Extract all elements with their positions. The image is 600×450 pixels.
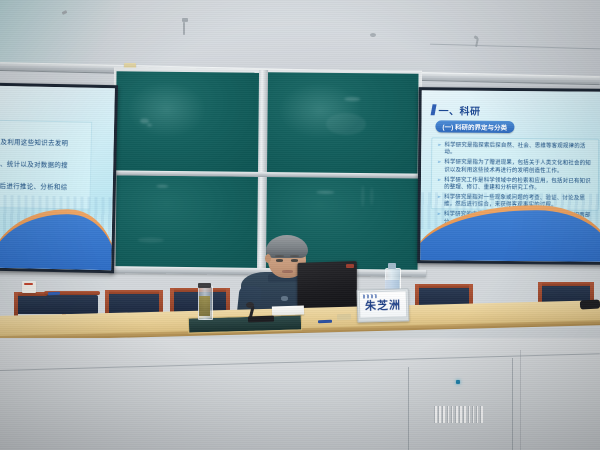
desk-panel-seam-vertical [520,350,521,450]
speaker-eye [291,259,298,262]
chair-backrest [46,295,98,314]
chalk-smudge [370,187,373,205]
chair-post [170,288,174,314]
desk-panel-seam-vertical [408,367,409,450]
dark-object-right [580,299,600,309]
thermos-cap [198,283,211,288]
lecture-hall-photo: 以及利用这些知识去发明 理、统计以及对数据的搜 然后进行推论、分析和综 一、科研… [0,0,600,450]
bullet-marker-icon: ➢ [437,160,441,175]
slide-bullet: ➢ 科学研究是指为了赠进现果，包括关于人类文化和社会的知识以及利用这些技术再进行… [437,160,593,176]
desk-vent-grille [434,406,488,423]
ceiling-seam [430,44,600,50]
speaker-brow [275,255,284,257]
left-screen-surface: 以及利用这些知识去发明 理、统计以及对数据的搜 然后进行推论、分析和综 [0,86,115,270]
slide-bullet-text: 科学研究是指为了赠进现果，包括关于人类文化和社会的知识以及利用这些技术再进行的发… [444,160,593,176]
speaker-ear [265,254,271,263]
slide-title: 一、科研 [439,102,481,117]
slide-bullet-text: 科学研究工作是科学领域中的检索和应用，包括对已有知识的整理、修订、重建和分析研究… [444,177,593,193]
left-slide-line-2: 理、统计以及对数据的搜 [0,160,68,171]
right-projection-screen: 一、科研 (一) 科研的界定与分类 ➢ 科学研究是指探索后探自然、社会、思维等客… [417,87,600,265]
microphone-head [246,302,254,308]
left-projection-screen: 以及利用这些知识去发明 理、统计以及对数据的搜 然后进行推论、分析和综 [0,83,118,274]
polo-logo [281,296,288,301]
slide-bullet: ➢ 科学研究工作是科学领域中的检索和应用，包括对已有知识的整理、修订、重建和分析… [437,177,593,193]
remote-control[interactable] [248,316,274,323]
ceiling-light-tint [0,0,120,70]
wall-notice-mark [24,283,33,285]
chair-post [14,292,18,316]
nameplate-card: 朱芝洲 [359,290,408,318]
printed-papers [272,305,304,315]
left-slide-line-1: 以及利用这些知识去发明 [0,138,69,149]
pen-on-desk [318,320,332,323]
bullet-marker-icon: ➢ [437,142,441,157]
blue-marker [48,292,60,296]
slide-subtitle-text: (一) 科研的界定与分类 [442,121,507,132]
chalk-smudge [147,124,152,127]
right-slide: 一、科研 (一) 科研的界定与分类 ➢ 科学研究是指探索后探自然、社会、思维等客… [420,90,600,262]
left-slide: 以及利用这些知识去发明 理、统计以及对数据的搜 然后进行推论、分析和综 [0,86,115,270]
bullet-marker-icon: ➢ [437,177,441,192]
chalk-smudge [316,191,334,194]
slide-subtitle-badge: (一) 科研的界定与分类 [435,120,514,133]
slide-title-row: 一、科研 [432,102,481,117]
desk-panel-seam-vertical [512,358,513,450]
blackboard-panel-lower-left [116,175,260,270]
nameplate-name-text: 朱芝洲 [365,296,401,313]
left-slide-line-3: 然后进行推论、分析和综 [0,182,68,193]
chalk-smudge [344,97,360,101]
water-bottle-cap [388,263,396,269]
chalk-smudge [326,113,366,135]
chalk-smudge [138,237,164,242]
thermos-tea-leaves [199,296,210,316]
desk-power-led [456,380,460,384]
blackboard-panel-upper-left [115,71,259,173]
speaker-eye [276,259,283,262]
speaker-brow [290,255,299,257]
title-accent-bar [431,104,437,115]
laptop-indicator-light [346,264,354,268]
blackboard-panel-upper-right [265,72,418,175]
chalk-smudge [156,185,168,188]
right-screen-surface: 一、科研 (一) 科研的界定与分类 ➢ 科学研究是指探索后探自然、社会、思维等客… [420,90,600,262]
ceiling-fixture [183,22,185,35]
phone-on-desk [337,314,351,320]
ceiling-fixture [370,33,376,37]
slide-bullet: ➢ 科学研究是指探索后探自然、社会、思维等客观规律的活动。 [437,142,593,158]
speaker-mouth [282,270,293,273]
chalk-smudge [361,185,364,207]
slide-bullet-text: 科学研究是指探索后探自然、社会、思维等客观规律的活动。 [444,142,593,158]
